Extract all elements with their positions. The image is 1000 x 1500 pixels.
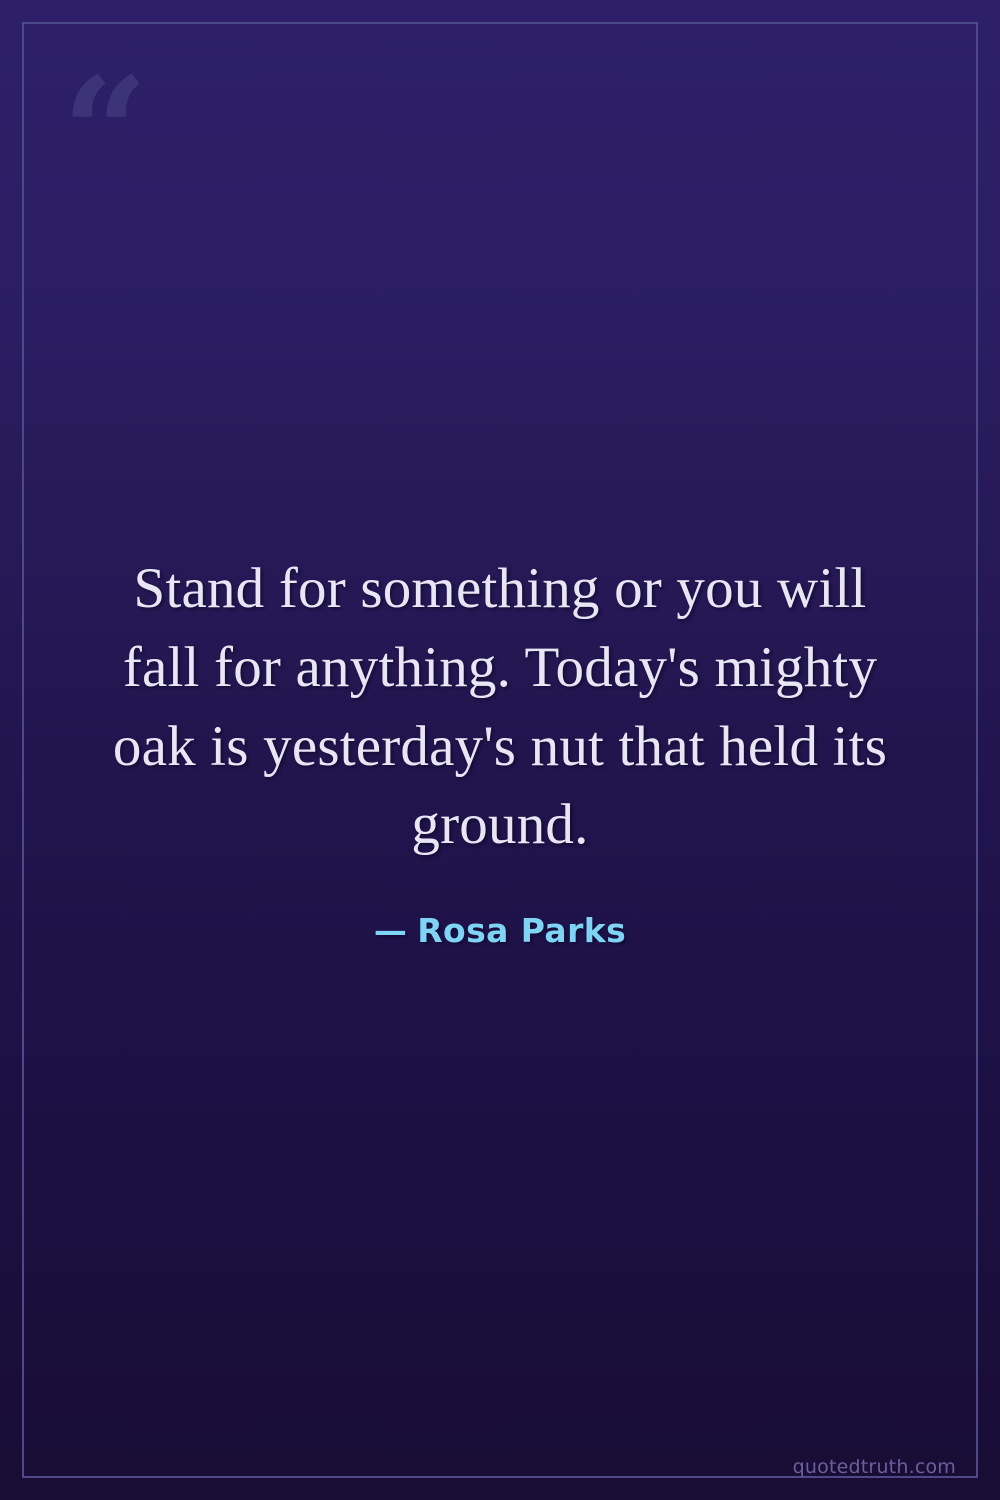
site-watermark: quotedtruth.com (793, 1456, 956, 1478)
quote-text: Stand for something or you will fall for… (95, 550, 905, 865)
attribution-author: Rosa Parks (417, 911, 626, 950)
quote-card: “ Stand for something or you will fall f… (0, 0, 1000, 1500)
attribution-dash: — (374, 911, 407, 950)
quote-attribution: —Rosa Parks (374, 911, 626, 950)
quote-content: Stand for something or you will fall for… (0, 0, 1000, 1500)
